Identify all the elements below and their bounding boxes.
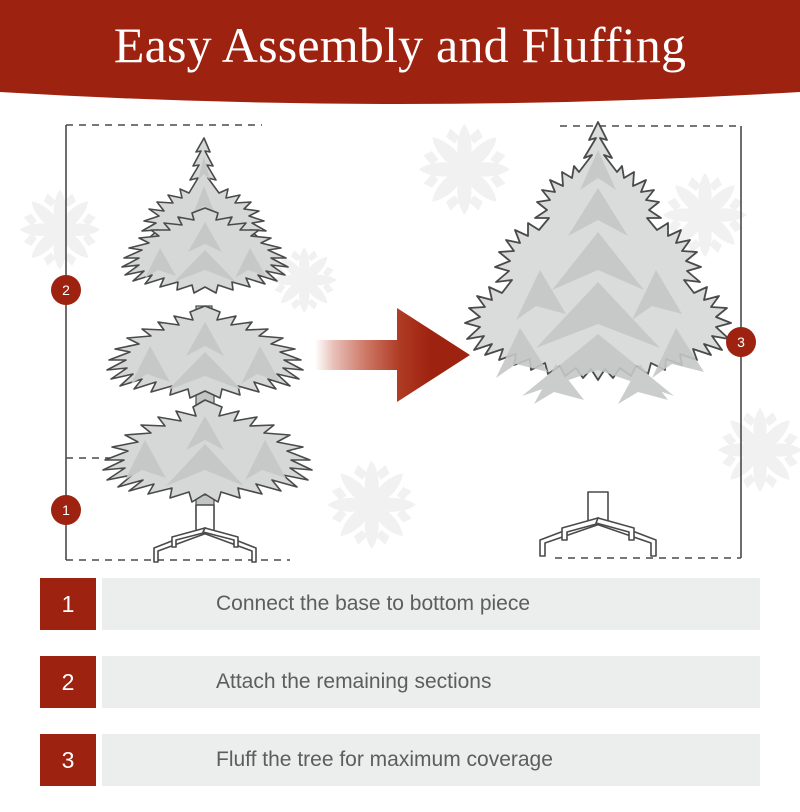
- stand-leg: [562, 518, 600, 540]
- step-number-1: 1: [40, 578, 96, 630]
- tree-section-bottom: [103, 400, 312, 575]
- page-title: Easy Assembly and Fluffing: [0, 14, 800, 76]
- marker-3: 3: [726, 327, 756, 357]
- tree-stand-right: [540, 492, 656, 556]
- step-label-1: Connect the base to bottom piece: [102, 578, 760, 630]
- infographic-page: Easy Assembly and Fluffing: [0, 0, 800, 800]
- header-banner: Easy Assembly and Fluffing: [0, 0, 800, 110]
- step-row-1: 1 Connect the base to bottom piece: [40, 578, 760, 630]
- snowflake-icon: [718, 408, 800, 492]
- snowflake-icon: [419, 124, 510, 215]
- marker-2: 2: [51, 275, 81, 305]
- step-row-3: 3 Fluff the tree for maximum coverage: [40, 734, 760, 786]
- arrow-shape: [315, 308, 470, 402]
- step-label-3: Fluff the tree for maximum coverage: [102, 734, 760, 786]
- assembly-diagram: 2 1 3: [0, 110, 800, 575]
- step-number-2: 2: [40, 656, 96, 708]
- marker-1: 1: [51, 495, 81, 525]
- step-label-2: Attach the remaining sections: [102, 656, 760, 708]
- disassembled-tree-group: [103, 138, 312, 575]
- snowflake-icon: [20, 190, 100, 270]
- step-row-2: 2 Attach the remaining sections: [40, 656, 760, 708]
- tree-stand-left: [154, 505, 256, 562]
- stand-leg: [596, 518, 634, 540]
- steps-list: 1 Connect the base to bottom piece 2 Att…: [0, 578, 800, 812]
- snowflake-icon: [328, 461, 416, 549]
- process-arrow: [315, 308, 470, 402]
- step-number-3: 3: [40, 734, 96, 786]
